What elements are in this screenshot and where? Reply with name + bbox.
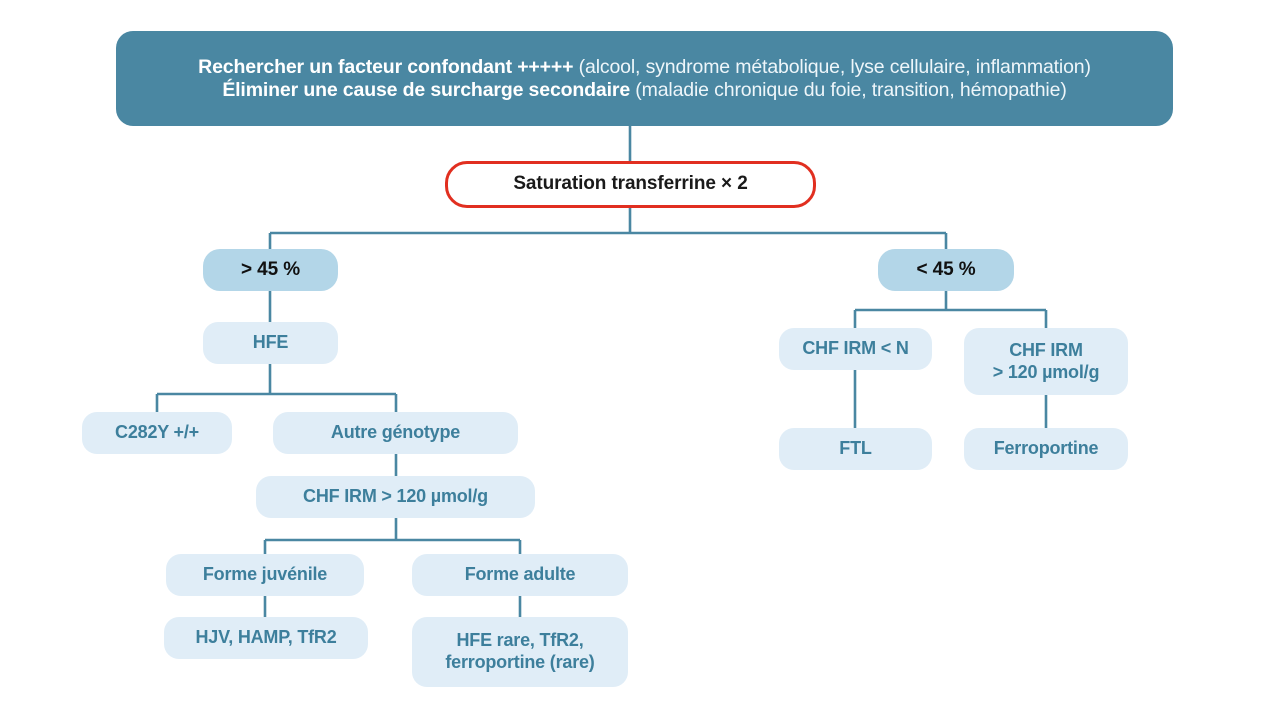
node-c282y-homozygote[interactable]: C282Y +/+: [82, 412, 232, 454]
node-ferroportine[interactable]: Ferroportine: [964, 428, 1128, 470]
header-banner: Rechercher un facteur confondant +++++ (…: [116, 31, 1173, 126]
node-saturation-above-45[interactable]: > 45 %: [203, 249, 338, 291]
node-autre-genotype[interactable]: Autre génotype: [273, 412, 518, 454]
banner-line-1: Rechercher un facteur confondant +++++ (…: [198, 56, 1091, 79]
node-forme-juvenile[interactable]: Forme juvénile: [166, 554, 364, 596]
node-hfe[interactable]: HFE: [203, 322, 338, 364]
banner-line-2-light: (maladie chronique du foie, transition, …: [630, 79, 1067, 101]
node-saturation-below-45[interactable]: < 45 %: [878, 249, 1014, 291]
diagram-canvas: Rechercher un facteur confondant +++++ (…: [0, 0, 1280, 715]
banner-line-2-strong: Éliminer une cause de surcharge secondai…: [222, 79, 630, 101]
node-chf-irm-above-120[interactable]: CHF IRM > 120 µmol/g: [256, 476, 535, 518]
decision-saturation-transferrine[interactable]: Saturation transferrine × 2: [445, 161, 816, 208]
node-genes-adulte[interactable]: HFE rare, TfR2, ferroportine (rare): [412, 617, 628, 687]
node-chf-irm-below-n[interactable]: CHF IRM < N: [779, 328, 932, 370]
node-ftl[interactable]: FTL: [779, 428, 932, 470]
node-forme-adulte[interactable]: Forme adulte: [412, 554, 628, 596]
banner-line-1-light: (alcool, syndrome métabolique, lyse cell…: [573, 56, 1090, 78]
banner-line-1-strong: Rechercher un facteur confondant +++++: [198, 56, 573, 78]
node-genes-juvenile[interactable]: HJV, HAMP, TfR2: [164, 617, 368, 659]
node-chf-irm-above-120-right[interactable]: CHF IRM > 120 µmol/g: [964, 328, 1128, 395]
banner-line-2: Éliminer une cause de surcharge secondai…: [222, 79, 1066, 102]
